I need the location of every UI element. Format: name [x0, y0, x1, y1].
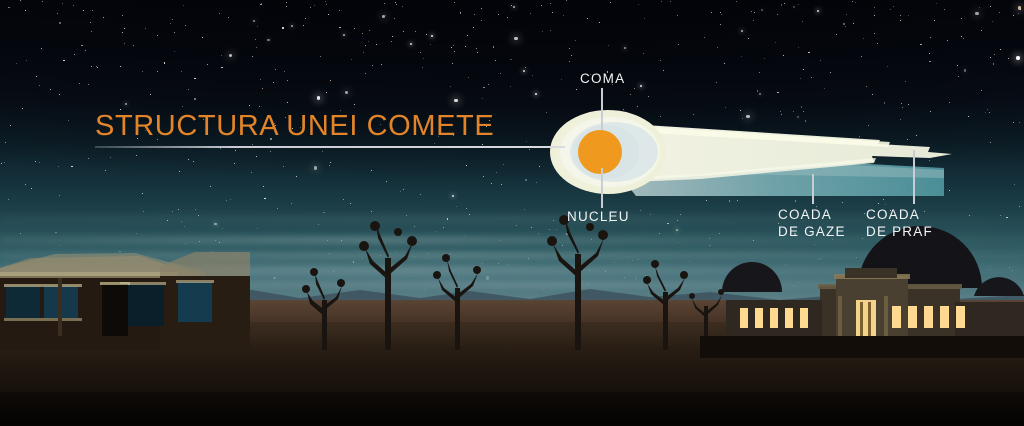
page-title: STRUCTURA UNEI COMETE: [95, 110, 494, 143]
joshua-tree: [302, 268, 345, 350]
joshua-tree: [547, 215, 608, 350]
label-coada-de-gaze: COADA DE GAZE: [778, 206, 846, 240]
coada-de-praf-leader-line: [913, 150, 915, 204]
coma-leader-line: [601, 88, 603, 130]
label-coma: COMA: [580, 70, 625, 87]
label-coada-de-praf: COADA DE PRAF: [866, 206, 933, 240]
nucleu-leader-line: [601, 168, 603, 208]
joshua-trees: [302, 215, 724, 350]
joshua-tree: [433, 254, 481, 350]
label-nucleu: NUCLEU: [567, 208, 630, 225]
label-coada-de-praf-line1: COADA: [866, 206, 933, 223]
label-coada-de-gaze-line2: DE GAZE: [778, 223, 846, 240]
joshua-tree: [643, 260, 688, 350]
joshua-tree: [359, 221, 417, 350]
comet-structure-infographic: STRUCTURA UNEI COMETE COMA NUCLEU COADA …: [0, 0, 1024, 426]
coada-de-gaze-leader-line: [812, 174, 814, 204]
label-coada-de-gaze-line1: COADA: [778, 206, 846, 223]
title-leader-line: [95, 146, 565, 148]
label-coada-de-praf-line2: DE PRAF: [866, 223, 933, 240]
house-building: [0, 252, 250, 350]
observatory-building: [700, 226, 1024, 358]
